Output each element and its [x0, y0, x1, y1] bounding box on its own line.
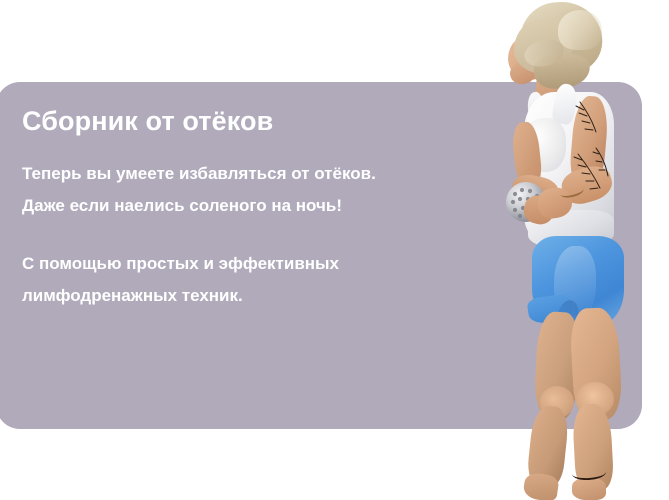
page-title: Сборник от отёков — [22, 104, 422, 138]
arm-tattoo-icon — [566, 96, 622, 216]
hair-highlight-a — [558, 10, 602, 50]
promo-paragraph-secondary: С помощью простых и эффективных лимфодре… — [22, 248, 397, 312]
right-foot — [572, 478, 606, 500]
promo-banner-screenshot: Сборник от отёков Теперь вы умеете избав… — [0, 0, 669, 500]
woman-photo — [462, 0, 669, 500]
promo-paragraph-primary: Теперь вы умеете избавляться от отёков. … — [22, 158, 397, 222]
promo-card-content: Сборник от отёков Теперь вы умеете избав… — [22, 104, 422, 312]
